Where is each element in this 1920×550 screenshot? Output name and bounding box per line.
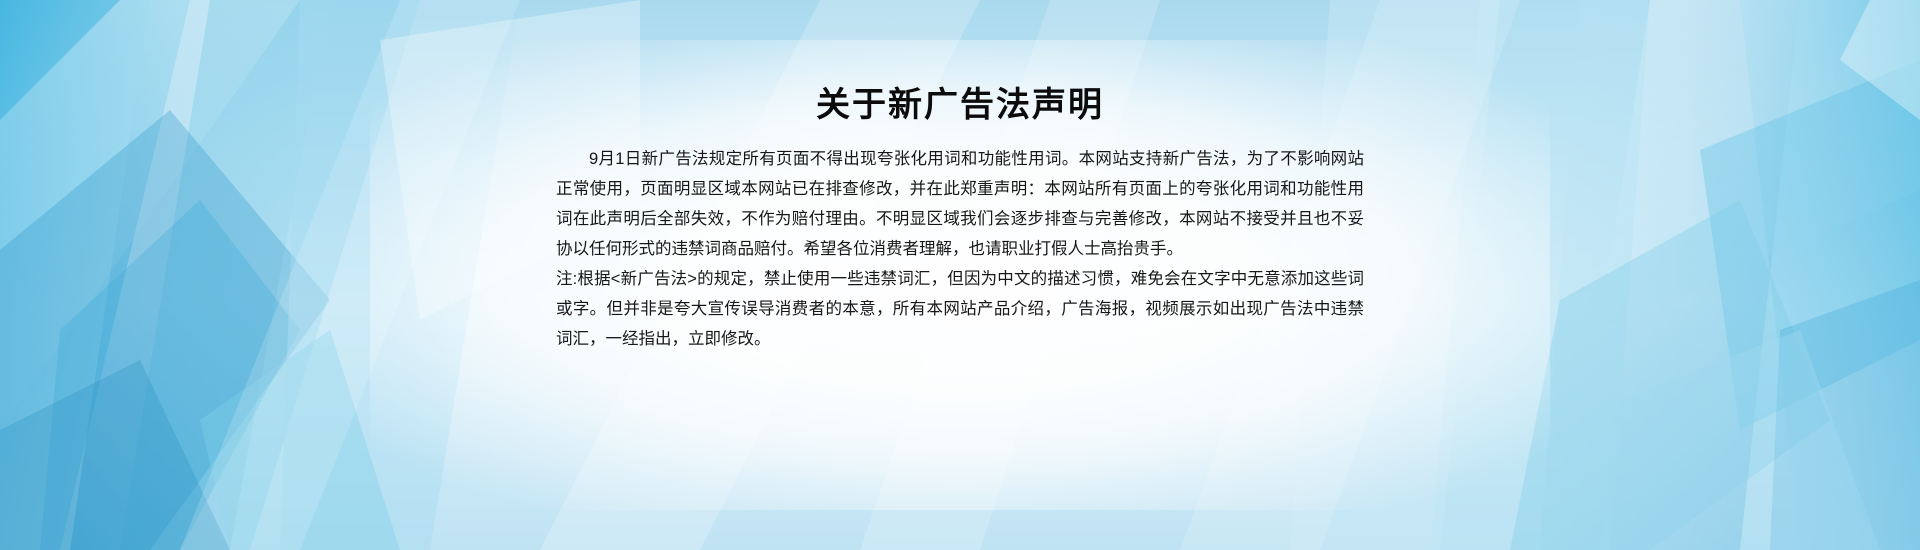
- advertising-law-statement-banner: 关于新广告法声明 9月1日新广告法规定所有页面不得出现夸张化用词和功能性用词。本…: [0, 0, 1920, 550]
- statement-paragraph-note: 注:根据<新广告法>的规定，禁止使用一些违禁词汇，但因为中文的描述习惯，难免会在…: [556, 264, 1364, 354]
- statement-body: 9月1日新广告法规定所有页面不得出现夸张化用词和功能性用词。本网站支持新广告法，…: [556, 144, 1364, 354]
- banner-content: 关于新广告法声明 9月1日新广告法规定所有页面不得出现夸张化用词和功能性用词。本…: [0, 0, 1920, 550]
- page-title: 关于新广告法声明: [816, 86, 1104, 125]
- statement-paragraph-main: 9月1日新广告法规定所有页面不得出现夸张化用词和功能性用词。本网站支持新广告法，…: [556, 144, 1364, 264]
